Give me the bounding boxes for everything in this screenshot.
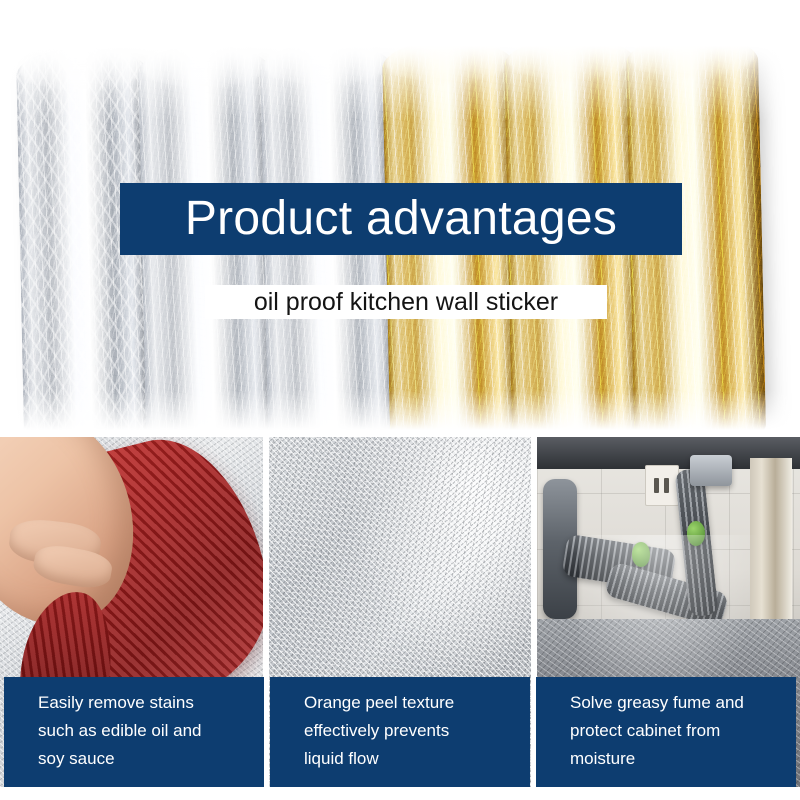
caption-line: liquid flow	[304, 745, 516, 773]
roll-cap	[507, 35, 634, 82]
roll-cap	[263, 40, 390, 87]
sink-drain-collar	[690, 455, 732, 487]
caption-line: Orange peel texture	[304, 689, 516, 717]
caption-line: protect cabinet from	[570, 717, 782, 745]
title-banner: Product advantages	[120, 183, 682, 255]
page-title: Product advantages	[185, 195, 617, 243]
product-advantages-infographic: Product advantages oil proof kitchen wal…	[0, 0, 800, 800]
subtitle-band: oil proof kitchen wall sticker	[205, 285, 607, 319]
caption-line: Easily remove stains	[38, 689, 250, 717]
caption-line: moisture	[570, 745, 782, 773]
caption-line: Solve greasy fume and	[570, 689, 782, 717]
caption-under-sink: Solve greasy fume and protect cabinet fr…	[536, 677, 796, 787]
caption-orange-peel: Orange peel texture effectively prevents…	[270, 677, 530, 787]
roll-cap	[385, 38, 512, 85]
roll-cap	[629, 33, 756, 80]
caption-row: Easily remove stains such as edible oil …	[0, 677, 800, 787]
page-subtitle: oil proof kitchen wall sticker	[254, 290, 558, 315]
caption-stain-removal: Easily remove stains such as edible oil …	[4, 677, 264, 787]
caption-line: such as edible oil and	[38, 717, 250, 745]
roll-cap	[19, 46, 146, 93]
roll-cap	[141, 43, 268, 90]
caption-line: soy sauce	[38, 745, 250, 773]
power-outlet	[645, 465, 679, 506]
caption-line: effectively prevents	[304, 717, 516, 745]
